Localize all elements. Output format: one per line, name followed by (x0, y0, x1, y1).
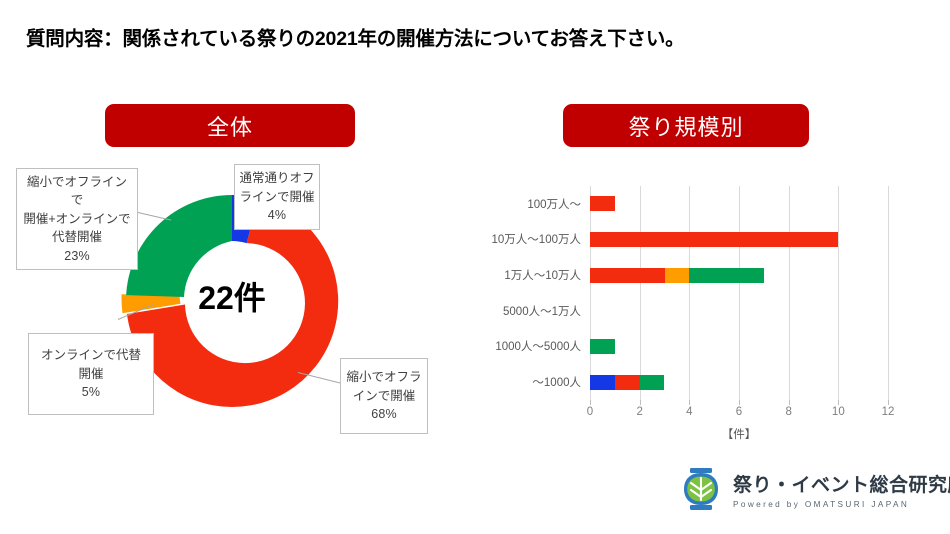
bar-row[interactable]: 5000人～1万人 (590, 293, 888, 329)
bar-track (590, 232, 888, 247)
bar-track (590, 303, 888, 318)
bar-category-label: 1万人～10万人 (504, 267, 581, 283)
x-tick-label: 8 (785, 406, 791, 418)
overall-chart-banner: 全体 (105, 104, 355, 147)
bar-segment[interactable] (615, 375, 640, 390)
bar-row[interactable]: 100万人～ (590, 186, 888, 222)
logo-sub-text: Powered by OMATSURI JAPAN (733, 500, 950, 509)
bar-track (590, 375, 888, 390)
logo-text-block: 祭り・イベント総合研究所 Powered by OMATSURI JAPAN (733, 470, 950, 509)
bar-row[interactable]: 10万人～100万人 (590, 222, 888, 258)
callout-blue-line1: 通常通りオフ (239, 169, 314, 188)
callout-blue-percent: 4% (268, 206, 286, 225)
callout-red-line1: 縮小でオフラ (346, 368, 421, 387)
bar-plot-area: 100万人～10万人～100万人1万人～10万人5000人～1万人1000人～5… (590, 186, 888, 400)
logo-main-text: 祭り・イベント総合研究所 (733, 470, 950, 497)
callout-green-percent: 23% (64, 247, 90, 266)
x-tick-label: 6 (736, 406, 742, 418)
omatsuri-japan-logo: 祭り・イベント総合研究所 Powered by OMATSURI JAPAN (678, 466, 950, 512)
callout-orange-line2: 開催 (78, 365, 103, 384)
bar-category-label: 1000人～5000人 (495, 338, 581, 354)
x-tick-label: 0 (587, 406, 593, 418)
callout-green-line2: 開催+オンラインで (23, 210, 130, 229)
x-tick (888, 400, 889, 405)
callout-red-line2: インで開催 (353, 387, 416, 406)
callout-green-line3: 代替開催 (52, 228, 102, 247)
bar-row[interactable]: ～1000人 (590, 364, 888, 400)
bar-segment[interactable] (590, 232, 838, 247)
by-scale-chart-banner: 祭り規模別 (563, 104, 809, 147)
x-tick (739, 400, 740, 405)
x-tick-label: 12 (882, 406, 895, 418)
bar-segment[interactable] (590, 339, 615, 354)
x-tick (689, 400, 690, 405)
x-tick-label: 10 (832, 406, 845, 418)
callout-orange-line1: オンラインで代替 (41, 346, 141, 365)
x-tick (838, 400, 839, 405)
bar-row[interactable]: 1000人～5000人 (590, 329, 888, 365)
callout-red: 縮小でオフラ インで開催 68% (340, 358, 428, 434)
bar-category-label: 100万人～ (527, 196, 581, 212)
bar-row[interactable]: 1万人～10万人 (590, 257, 888, 293)
bar-category-label: 10万人～100万人 (492, 231, 581, 247)
bar-segment[interactable] (640, 375, 665, 390)
by-scale-bar-chart: 100万人～10万人～100万人1万人～10万人5000人～1万人1000人～5… (478, 176, 930, 438)
bar-segment[interactable] (665, 268, 690, 283)
bar-track (590, 196, 888, 211)
callout-blue: 通常通りオフ ラインで開催 4% (234, 164, 320, 230)
x-tick-label: 2 (636, 406, 642, 418)
callout-orange-percent: 5% (82, 383, 100, 402)
bar-track (590, 339, 888, 354)
gridline (888, 186, 889, 400)
bar-category-label: 5000人～1万人 (503, 303, 581, 319)
x-tick (789, 400, 790, 405)
lantern-icon (678, 466, 724, 512)
x-tick (590, 400, 591, 405)
bar-track (590, 268, 888, 283)
bar-segment[interactable] (590, 375, 615, 390)
callout-orange: オンラインで代替 開催 5% (28, 333, 154, 415)
bar-segment[interactable] (590, 268, 665, 283)
x-tick (640, 400, 641, 405)
callout-red-percent: 68% (371, 405, 397, 424)
bar-segment[interactable] (590, 196, 615, 211)
callout-green: 縮小でオフラインで 開催+オンラインで 代替開催 23% (16, 168, 138, 270)
donut-center-value: 22件 (198, 280, 266, 316)
bar-segment[interactable] (689, 268, 764, 283)
callout-blue-line2: ラインで開催 (239, 188, 314, 207)
bar-category-label: ～1000人 (532, 374, 581, 390)
page-title: 質問内容：関係されている祭りの2021年の開催方法についてお答え下さい。 (26, 22, 684, 51)
callout-green-line1: 縮小でオフラインで (21, 173, 133, 210)
x-tick-label: 4 (686, 406, 692, 418)
x-axis-title: 【件】 (722, 426, 757, 442)
